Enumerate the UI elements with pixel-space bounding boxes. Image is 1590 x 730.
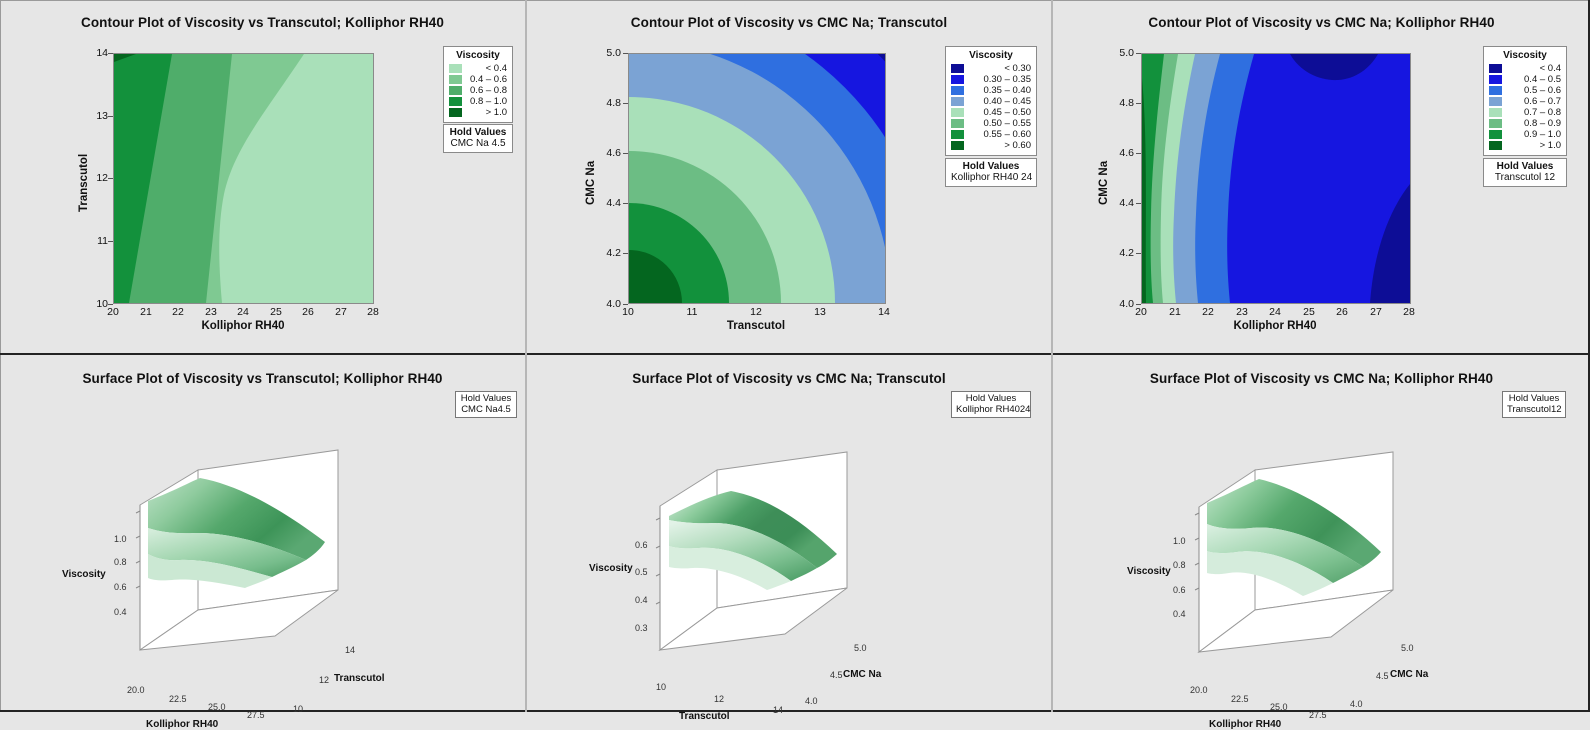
legend-item: > 1.0 (449, 107, 507, 118)
surface2-xtick-1: 12 (714, 694, 724, 704)
contour2-ytick-0: 5.0 (595, 47, 621, 59)
surface3-zaxis-label: Viscosity (1127, 566, 1171, 577)
surface1-ztick-1: 0.8 (114, 557, 127, 567)
surface1-yaxis-label: Transcutol (334, 673, 385, 684)
contour2-ytickmark (623, 153, 628, 154)
legend-swatch (449, 108, 462, 117)
hold-title: Hold Values (951, 161, 1031, 172)
contour1-title: Contour Plot of Viscosity vs Transcutol;… (0, 15, 525, 30)
contour3-xtick-4: 24 (1269, 306, 1281, 318)
contour2-title: Contour Plot of Viscosity vs CMC Na; Tra… (527, 15, 1051, 30)
legend-swatch (449, 64, 462, 73)
legend-item: 0.4 – 0.5 (1489, 74, 1561, 85)
legend-label: 0.30 – 0.35 (964, 74, 1031, 85)
surface2-xtick-2: 14 (773, 705, 783, 715)
hold-title: Hold Values (1507, 393, 1561, 404)
contour2-ytick-5: 4.0 (595, 298, 621, 310)
panel-surface-1: Surface Plot of Viscosity vs Transcutol;… (0, 355, 525, 712)
surface2-title: Surface Plot of Viscosity vs CMC Na; Tra… (527, 371, 1051, 386)
legend-swatch (1489, 75, 1502, 84)
legend-item: 0.9 – 1.0 (1489, 129, 1561, 140)
surface1-ztick-2: 0.6 (114, 582, 127, 592)
contour1-ytickmark-0 (108, 53, 113, 54)
contour3-ytick-0: 5.0 (1108, 47, 1134, 59)
surface1-ytick-2: 10 (293, 704, 303, 714)
surface2-ytick-1: 4.5 (830, 670, 843, 680)
contour3-ytick-3: 4.4 (1108, 197, 1134, 209)
panel-surface-2: Surface Plot of Viscosity vs CMC Na; Tra… (527, 355, 1051, 712)
contour2-ytick-4: 4.2 (595, 247, 621, 259)
contour2-legend: Viscosity < 0.30 0.30 – 0.35 0.35 – 0.40… (945, 46, 1037, 156)
surface1-xtick-1: 22.5 (169, 694, 187, 704)
contour3-ytickmark (1136, 103, 1141, 104)
surface3-ytick-0: 5.0 (1401, 643, 1414, 653)
contour3-xaxis-label: Kolliphor RH40 (1233, 320, 1316, 332)
contour2-ytickmark (623, 53, 628, 54)
contour3-yaxis-label: CMC Na (1098, 161, 1110, 205)
contour1-ytickmark-1 (108, 116, 113, 117)
legend-swatch (951, 119, 964, 128)
legend-label: 0.55 – 0.60 (964, 129, 1031, 140)
legend-item: 0.6 – 0.7 (1489, 96, 1561, 107)
contour3-ytickmark (1136, 203, 1141, 204)
legend-label: > 1.0 (1502, 140, 1561, 151)
legend-swatch (1489, 97, 1502, 106)
contour3-ytickmark (1136, 153, 1141, 154)
surface2-yaxis-label: CMC Na (843, 669, 881, 680)
surface2-ztick-0: 0.6 (635, 540, 648, 550)
contour1-ytick-2: 12 (88, 172, 108, 184)
minitab-plot-grid: Contour Plot of Viscosity vs Transcutol;… (0, 0, 1590, 712)
contour1-ytick-4: 10 (88, 298, 108, 310)
contour3-ytick-2: 4.6 (1108, 147, 1134, 159)
hold-value: CMC Na 4.5 (449, 138, 507, 149)
contour2-ytick-2: 4.6 (595, 147, 621, 159)
legend-swatch (1489, 141, 1502, 150)
contour3-xtick-5: 25 (1303, 306, 1315, 318)
surface3-ztick-3: 0.4 (1173, 609, 1186, 619)
legend-swatch (449, 86, 462, 95)
surface3-yaxis-label: CMC Na (1390, 669, 1428, 680)
contour1-ytick-3: 11 (88, 235, 108, 247)
surface1-3d-render (0, 410, 525, 710)
contour2-ytick-1: 4.8 (595, 97, 621, 109)
legend-label: > 0.60 (964, 140, 1031, 151)
contour2-xaxis-label: Transcutol (727, 320, 785, 332)
legend-swatch (951, 64, 964, 73)
contour1-xaxis-label: Kolliphor RH40 (201, 320, 284, 332)
legend-label: 0.35 – 0.40 (964, 85, 1031, 96)
contour1-ytick-0: 14 (88, 47, 108, 59)
contour3-xtick-0: 20 (1135, 306, 1147, 318)
contour2-ytickmark (623, 103, 628, 104)
legend-item: < 0.4 (449, 63, 507, 74)
contour3-xtick-8: 28 (1403, 306, 1415, 318)
contour3-plot-area (1141, 53, 1411, 304)
surface1-ztick-0: 1.0 (114, 534, 127, 544)
legend-label: 0.7 – 0.8 (1502, 107, 1561, 118)
contour3-ytick-5: 4.0 (1108, 298, 1134, 310)
contour3-ytickmark (1136, 304, 1141, 305)
contour2-ytick-3: 4.4 (595, 197, 621, 209)
legend-label: > 1.0 (462, 107, 507, 118)
surface2-ytick-2: 4.0 (805, 696, 818, 706)
surface1-title: Surface Plot of Viscosity vs Transcutol;… (0, 371, 525, 386)
hold-title: Hold Values (956, 393, 1026, 404)
contour1-xtick-2: 22 (172, 306, 184, 318)
surface1-zaxis-label: Viscosity (62, 569, 106, 580)
contour3-title: Contour Plot of Viscosity vs CMC Na; Kol… (1053, 15, 1590, 30)
surface3-xtick-2: 25.0 (1270, 702, 1288, 712)
contour1-xtick-3: 23 (205, 306, 217, 318)
legend-item: 0.35 – 0.40 (951, 85, 1031, 96)
contour3-legend-title: Viscosity (1489, 50, 1561, 61)
legend-label: 0.8 – 1.0 (462, 96, 507, 107)
hold-value: Transcutol 12 (1489, 172, 1561, 183)
legend-item: 0.40 – 0.45 (951, 96, 1031, 107)
surface2-ztick-3: 0.3 (635, 623, 648, 633)
surface3-ztick-2: 0.6 (1173, 585, 1186, 595)
surface3-xtick-1: 22.5 (1231, 694, 1249, 704)
legend-swatch (1489, 130, 1502, 139)
legend-label: 0.50 – 0.55 (964, 118, 1031, 129)
surface1-xaxis-label: Kolliphor RH40 (146, 719, 218, 730)
legend-swatch (1489, 119, 1502, 128)
surface2-xtick-0: 10 (656, 682, 666, 692)
legend-label: 0.6 – 0.8 (462, 85, 507, 96)
legend-label: 0.4 – 0.5 (1502, 74, 1561, 85)
contour3-xtick-1: 21 (1169, 306, 1181, 318)
legend-swatch (1489, 86, 1502, 95)
panel-contour-2: Contour Plot of Viscosity vs CMC Na; Tra… (527, 0, 1051, 353)
surface3-ytick-1: 4.5 (1376, 671, 1389, 681)
contour2-xtick-1: 11 (687, 306, 698, 318)
contour1-legend-title: Viscosity (449, 50, 507, 61)
hold-value: Kolliphor RH40 24 (951, 172, 1031, 183)
legend-label: 0.6 – 0.7 (1502, 96, 1561, 107)
contour2-hold-values: Hold Values Kolliphor RH40 24 (945, 158, 1037, 187)
contour3-legend: Viscosity < 0.4 0.4 – 0.5 0.5 – 0.6 0.6 … (1483, 46, 1567, 156)
surface2-3d-render (527, 410, 1051, 710)
legend-swatch (449, 97, 462, 106)
surface1-ytick-1: 12 (319, 675, 329, 685)
legend-label: < 0.30 (964, 63, 1031, 74)
legend-item: < 0.30 (951, 63, 1031, 74)
legend-swatch (951, 108, 964, 117)
legend-swatch (449, 75, 462, 84)
legend-item: 0.7 – 0.8 (1489, 107, 1561, 118)
legend-item: 0.45 – 0.50 (951, 107, 1031, 118)
panel-contour-1: Contour Plot of Viscosity vs Transcutol;… (0, 0, 525, 353)
contour1-ytick-1: 13 (88, 110, 108, 122)
contour1-plot-area (113, 53, 374, 304)
legend-item: > 0.60 (951, 140, 1031, 151)
contour1-yaxis-label: Transcutol (78, 154, 90, 212)
surface2-ztick-2: 0.4 (635, 595, 648, 605)
contour3-xtick-3: 23 (1236, 306, 1248, 318)
surface3-ztick-1: 0.8 (1173, 560, 1186, 570)
contour3-xtick-7: 27 (1370, 306, 1382, 318)
legend-item: 0.5 – 0.6 (1489, 85, 1561, 96)
contour2-ytickmark (623, 253, 628, 254)
contour3-xtick-6: 26 (1336, 306, 1348, 318)
hold-title: Hold Values (1489, 161, 1561, 172)
contour2-yaxis-label: CMC Na (585, 161, 597, 205)
legend-item: 0.55 – 0.60 (951, 129, 1031, 140)
contour2-xtick-0: 10 (622, 306, 634, 318)
panel-surface-3: Surface Plot of Viscosity vs CMC Na; Kol… (1053, 355, 1590, 712)
legend-item: 0.4 – 0.6 (449, 74, 507, 85)
contour1-xtick-7: 27 (335, 306, 347, 318)
legend-item: 0.30 – 0.35 (951, 74, 1031, 85)
surface3-xtick-0: 20.0 (1190, 685, 1208, 695)
legend-label: 0.4 – 0.6 (462, 74, 507, 85)
hold-title: Hold Values (449, 127, 507, 138)
surface3-ytick-2: 4.0 (1350, 699, 1363, 709)
legend-item: 0.6 – 0.8 (449, 85, 507, 96)
contour1-hold-values: Hold Values CMC Na 4.5 (443, 124, 513, 153)
legend-label: 0.9 – 1.0 (1502, 129, 1561, 140)
legend-label: 0.8 – 0.9 (1502, 118, 1561, 129)
contour3-ytick-4: 4.2 (1108, 247, 1134, 259)
contour3-ytickmark (1136, 253, 1141, 254)
legend-label: < 0.4 (462, 63, 507, 74)
legend-label: 0.5 – 0.6 (1502, 85, 1561, 96)
surface1-xtick-2: 25.0 (208, 702, 226, 712)
contour1-xtick-1: 21 (140, 306, 152, 318)
contour3-ytick-1: 4.8 (1108, 97, 1134, 109)
contour1-ytickmark-2 (108, 178, 113, 179)
contour3-xtick-2: 22 (1202, 306, 1214, 318)
legend-swatch (1489, 64, 1502, 73)
surface2-ytick-0: 5.0 (854, 643, 867, 653)
contour2-ytickmark (623, 203, 628, 204)
surface3-ztick-0: 1.0 (1173, 536, 1186, 546)
legend-item: < 0.4 (1489, 63, 1561, 74)
legend-swatch (951, 141, 964, 150)
hold-title: Hold Values (460, 393, 512, 404)
contour2-ytickmark (623, 304, 628, 305)
legend-swatch (1489, 108, 1502, 117)
surface3-title: Surface Plot of Viscosity vs CMC Na; Kol… (1053, 371, 1590, 386)
legend-swatch (951, 97, 964, 106)
legend-item: > 1.0 (1489, 140, 1561, 151)
surface2-zaxis-label: Viscosity (589, 563, 633, 574)
contour2-xtick-2: 12 (750, 306, 762, 318)
contour1-xtick-0: 20 (107, 306, 119, 318)
contour1-ytickmark-3 (108, 241, 113, 242)
contour2-xtick-3: 13 (814, 306, 826, 318)
contour2-legend-title: Viscosity (951, 50, 1031, 61)
surface3-3d-render (1053, 410, 1590, 710)
contour1-ytickmark-4 (108, 304, 113, 305)
legend-swatch (951, 86, 964, 95)
legend-item: 0.8 – 0.9 (1489, 118, 1561, 129)
surface3-xaxis-label: Kolliphor RH40 (1209, 719, 1281, 730)
contour1-legend: Viscosity < 0.4 0.4 – 0.6 0.6 – 0.8 0.8 … (443, 46, 513, 123)
contour2-plot-area (628, 53, 886, 304)
contour1-xtick-6: 26 (302, 306, 314, 318)
contour2-xtick-4: 14 (878, 306, 890, 318)
panel-contour-3: Contour Plot of Viscosity vs CMC Na; Kol… (1053, 0, 1590, 353)
legend-label: 0.45 – 0.50 (964, 107, 1031, 118)
surface2-ztick-1: 0.5 (635, 567, 648, 577)
surface1-xtick-0: 20.0 (127, 685, 145, 695)
contour3-ytickmark (1136, 53, 1141, 54)
legend-item: 0.8 – 1.0 (449, 96, 507, 107)
surface2-xaxis-label: Transcutol (679, 711, 730, 722)
legend-swatch (951, 75, 964, 84)
contour3-hold-values: Hold Values Transcutol 12 (1483, 158, 1567, 187)
legend-swatch (951, 130, 964, 139)
legend-label: 0.40 – 0.45 (964, 96, 1031, 107)
contour1-xtick-8: 28 (367, 306, 379, 318)
legend-label: < 0.4 (1502, 63, 1561, 74)
legend-item: 0.50 – 0.55 (951, 118, 1031, 129)
surface1-ytick-0: 14 (345, 645, 355, 655)
surface1-ztick-3: 0.4 (114, 607, 127, 617)
contour1-xtick-4: 24 (237, 306, 249, 318)
contour1-xtick-5: 25 (270, 306, 282, 318)
